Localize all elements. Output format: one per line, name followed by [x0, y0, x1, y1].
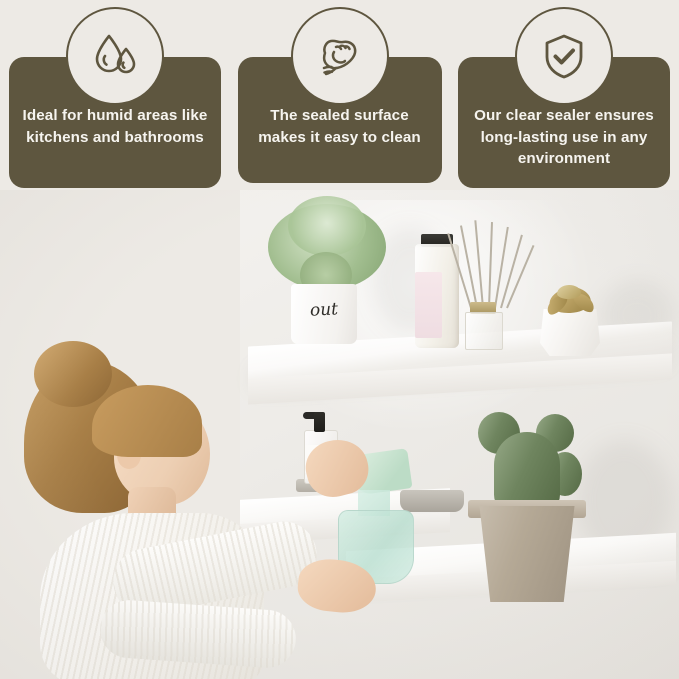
feature-card-long-lasting[interactable]: Our clear sealer ensures long-lasting us… — [458, 57, 670, 188]
feature-card-humid-areas[interactable]: Ideal for humid areas like kitchens and … — [9, 57, 221, 188]
hand-wiping-cloth-icon — [291, 7, 389, 105]
feature-card-text: Ideal for humid areas like kitchens and … — [21, 105, 209, 148]
feature-card-easy-clean[interactable]: The sealed surface makes it easy to clea… — [238, 57, 442, 183]
hair-bun — [34, 341, 112, 407]
hair-front — [92, 385, 202, 457]
cactus-terracotta-pot — [473, 506, 581, 602]
gray-dish-tray — [400, 490, 464, 512]
reed-diffuser-jar — [465, 312, 503, 350]
plant-foliage-top — [288, 196, 366, 256]
water-drops-icon — [66, 7, 164, 105]
soap-pump-stem — [314, 412, 325, 432]
feature-card-strip: Ideal for humid areas like kitchens and … — [0, 0, 679, 196]
product-lifestyle-photo: out — [0, 190, 679, 679]
shield-check-icon — [515, 7, 613, 105]
bottle-pink-label — [415, 272, 442, 338]
infographic-page: Ideal for humid areas like kitchens and … — [0, 0, 679, 679]
succulent-geometric-pot — [540, 309, 600, 356]
feature-card-text: Our clear sealer ensures long-lasting us… — [470, 105, 658, 170]
child-model — [0, 355, 264, 679]
planter-script-text: out — [296, 299, 353, 322]
feature-card-text: The sealed surface makes it easy to clea… — [250, 105, 430, 148]
